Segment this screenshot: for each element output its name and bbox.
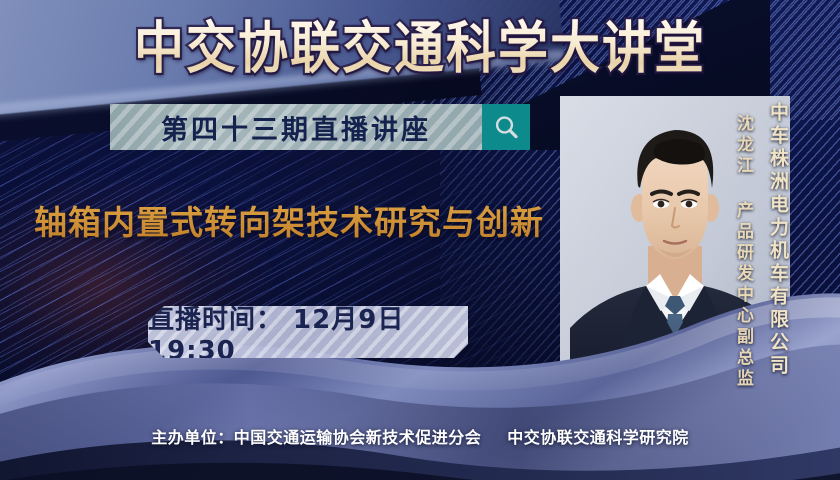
live-lecture-poster: 中交协联交通科学大讲堂 中交协联交通科学大讲堂 第四十三期直播讲座 轴箱内置式转…: [0, 0, 840, 480]
speaker-name-role: 沈龙江 产品研发中心副总监: [731, 114, 756, 390]
topic-title: 轴箱内置式转向架技术研究与创新: [34, 196, 544, 244]
footer-prefix: 主办单位：: [151, 428, 234, 447]
search-icon: [493, 114, 520, 141]
speaker-company: 中车株洲电力机车有限公司: [765, 102, 792, 378]
main-title: 中交协联交通科学大讲堂: [0, 16, 840, 81]
footer-organizers: 主办单位：中国交通运输协会新技术促进分会中交协联交通科学研究院: [0, 424, 840, 448]
live-time-text: 直播时间： 12月9日19:30: [148, 306, 468, 358]
session-bar-body: 第四十三期直播讲座: [110, 104, 482, 150]
live-time-pill: 直播时间： 12月9日19:30: [148, 306, 468, 358]
session-label: 第四十三期直播讲座: [161, 108, 431, 147]
footer-org-1: 中国交通运输协会新技术促进分会: [234, 428, 482, 447]
silk-ribbon-decoration: [0, 270, 840, 480]
session-bar: 第四十三期直播讲座: [110, 104, 530, 150]
search-icon-box[interactable]: [482, 104, 530, 150]
footer-org-2: 中交协联交通科学研究院: [507, 428, 689, 447]
